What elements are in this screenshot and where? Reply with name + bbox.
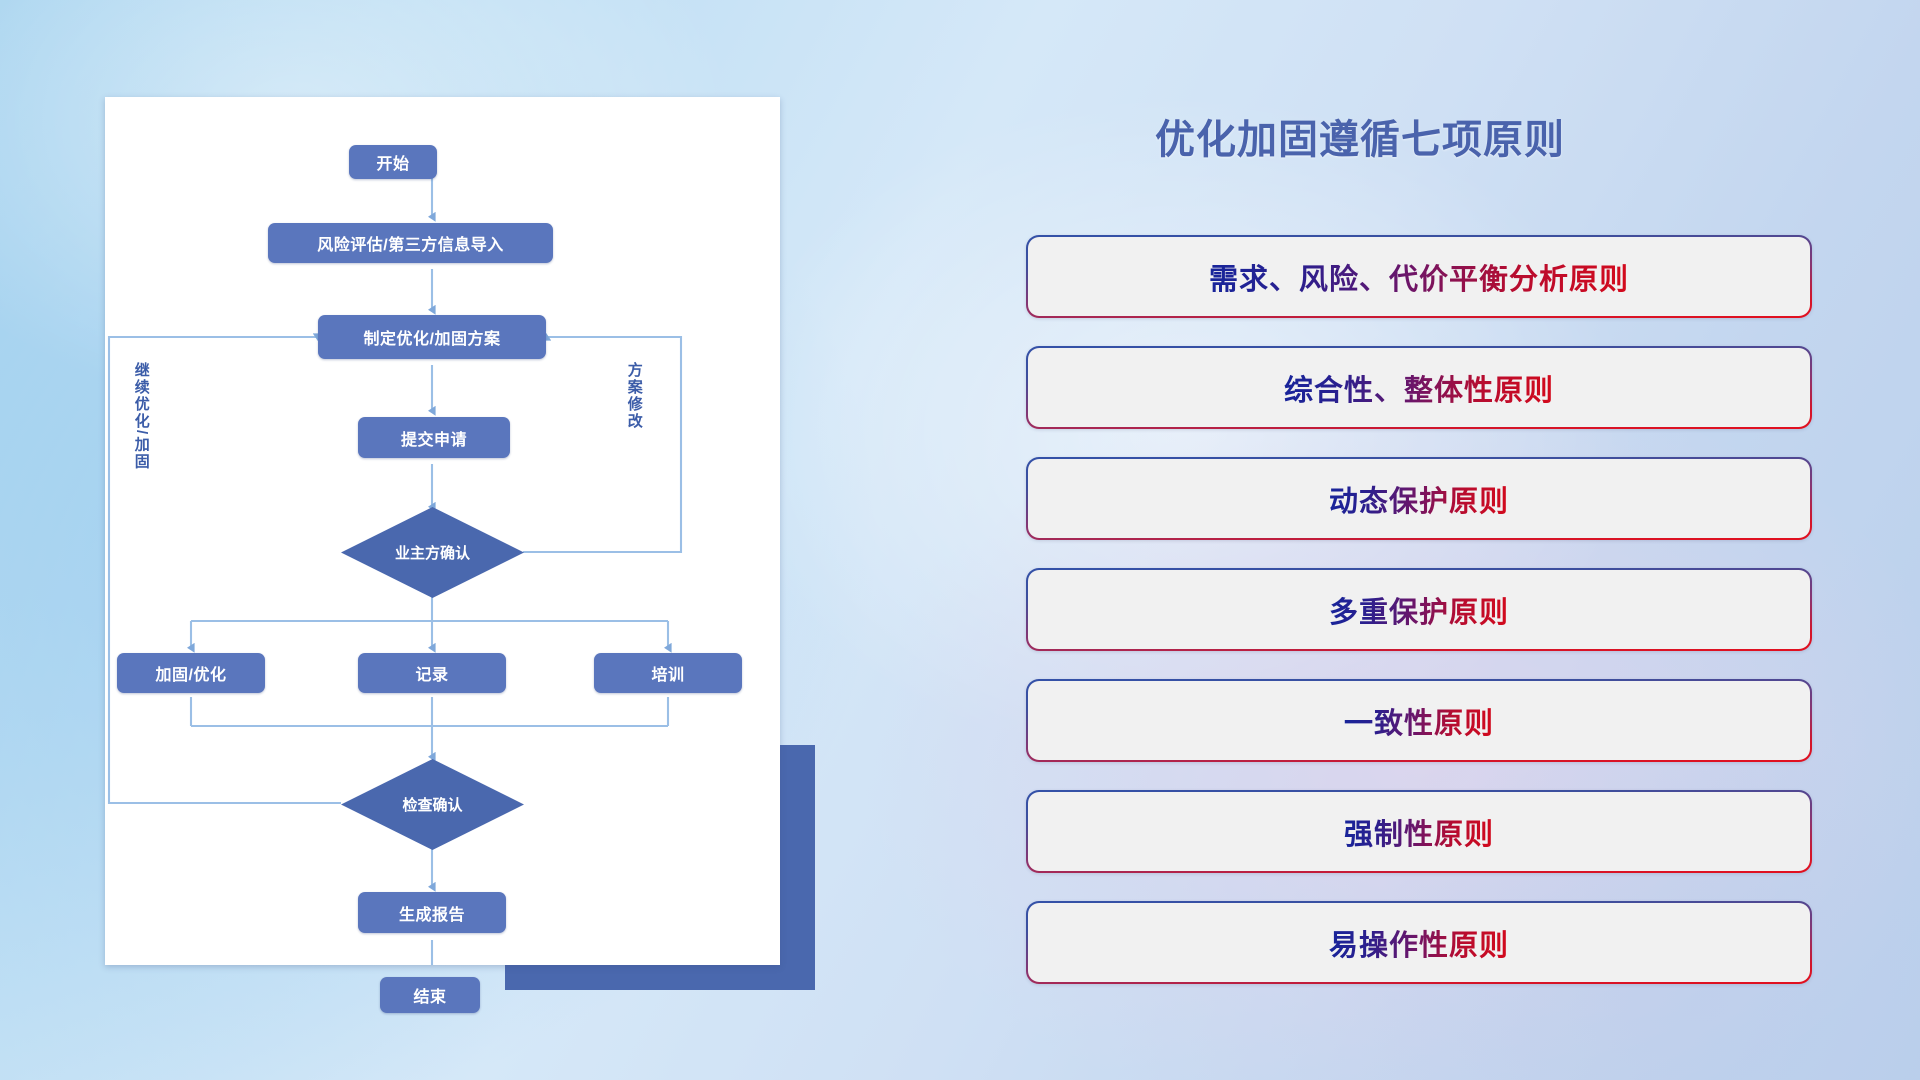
flow-node-label: 加固/优化 xyxy=(156,661,227,685)
flow-node-training[interactable]: 培训 xyxy=(594,653,742,693)
flow-node-label: 风险评估/第三方信息导入 xyxy=(317,231,503,255)
flow-edge-label-continue-optimize: 继续优化/加固 xyxy=(133,362,149,470)
principle-card-label: 强制性原则 xyxy=(1344,811,1494,853)
flow-node-submit-application[interactable]: 提交申请 xyxy=(358,417,510,458)
principle-card-label: 多重保护原则 xyxy=(1329,589,1509,631)
flow-node-label: 结束 xyxy=(413,983,446,1007)
principle-card-label: 一致性原则 xyxy=(1344,700,1494,742)
flow-node-generate-report[interactable]: 生成报告 xyxy=(358,892,506,933)
principle-card[interactable]: 易操作性原则 xyxy=(1026,901,1812,984)
flow-node-risk-assessment[interactable]: 风险评估/第三方信息导入 xyxy=(268,223,553,263)
flow-node-label: 记录 xyxy=(415,661,448,685)
flow-edge-label-plan-revision: 方案修改 xyxy=(626,362,642,430)
flow-node-make-plan[interactable]: 制定优化/加固方案 xyxy=(318,315,546,359)
flow-node-label: 培训 xyxy=(651,661,684,685)
flow-node-start[interactable]: 开始 xyxy=(349,145,437,179)
principle-card-label: 动态保护原则 xyxy=(1329,478,1509,520)
flow-node-label: 生成报告 xyxy=(399,901,465,925)
flowchart-panel: 开始 风险评估/第三方信息导入 制定优化/加固方案 提交申请 加固/优化 记录 … xyxy=(105,97,780,965)
principle-card[interactable]: 多重保护原则 xyxy=(1026,568,1812,651)
slide-root: 开始 风险评估/第三方信息导入 制定优化/加固方案 提交申请 加固/优化 记录 … xyxy=(0,0,1920,1080)
principle-card[interactable]: 综合性、整体性原则 xyxy=(1026,346,1812,429)
principle-card-label: 需求、风险、代价平衡分析原则 xyxy=(1209,256,1629,298)
flow-decision-check-confirm[interactable]: 检查确认 xyxy=(341,759,524,850)
principle-card[interactable]: 强制性原则 xyxy=(1026,790,1812,873)
flow-node-label: 提交申请 xyxy=(401,426,467,450)
flow-decision-label: 业主方确认 xyxy=(395,542,470,563)
section-title: 优化加固遵循七项原则 xyxy=(1155,107,1565,165)
flow-node-label: 开始 xyxy=(376,150,409,174)
principle-card[interactable]: 需求、风险、代价平衡分析原则 xyxy=(1026,235,1812,318)
flow-node-end[interactable]: 结束 xyxy=(380,977,480,1013)
flow-node-label: 制定优化/加固方案 xyxy=(364,325,501,349)
principle-card-label: 易操作性原则 xyxy=(1329,922,1509,964)
principle-card-label: 综合性、整体性原则 xyxy=(1284,367,1554,409)
flow-decision-owner-confirm[interactable]: 业主方确认 xyxy=(341,507,524,598)
flow-decision-label: 检查确认 xyxy=(402,794,462,815)
flow-node-reinforce-optimize[interactable]: 加固/优化 xyxy=(117,653,265,693)
principle-card[interactable]: 动态保护原则 xyxy=(1026,457,1812,540)
principle-card[interactable]: 一致性原则 xyxy=(1026,679,1812,762)
principles-card-list: 需求、风险、代价平衡分析原则 综合性、整体性原则 动态保护原则 多重保护原则 一… xyxy=(1026,235,1812,1012)
flow-node-record[interactable]: 记录 xyxy=(358,653,506,693)
